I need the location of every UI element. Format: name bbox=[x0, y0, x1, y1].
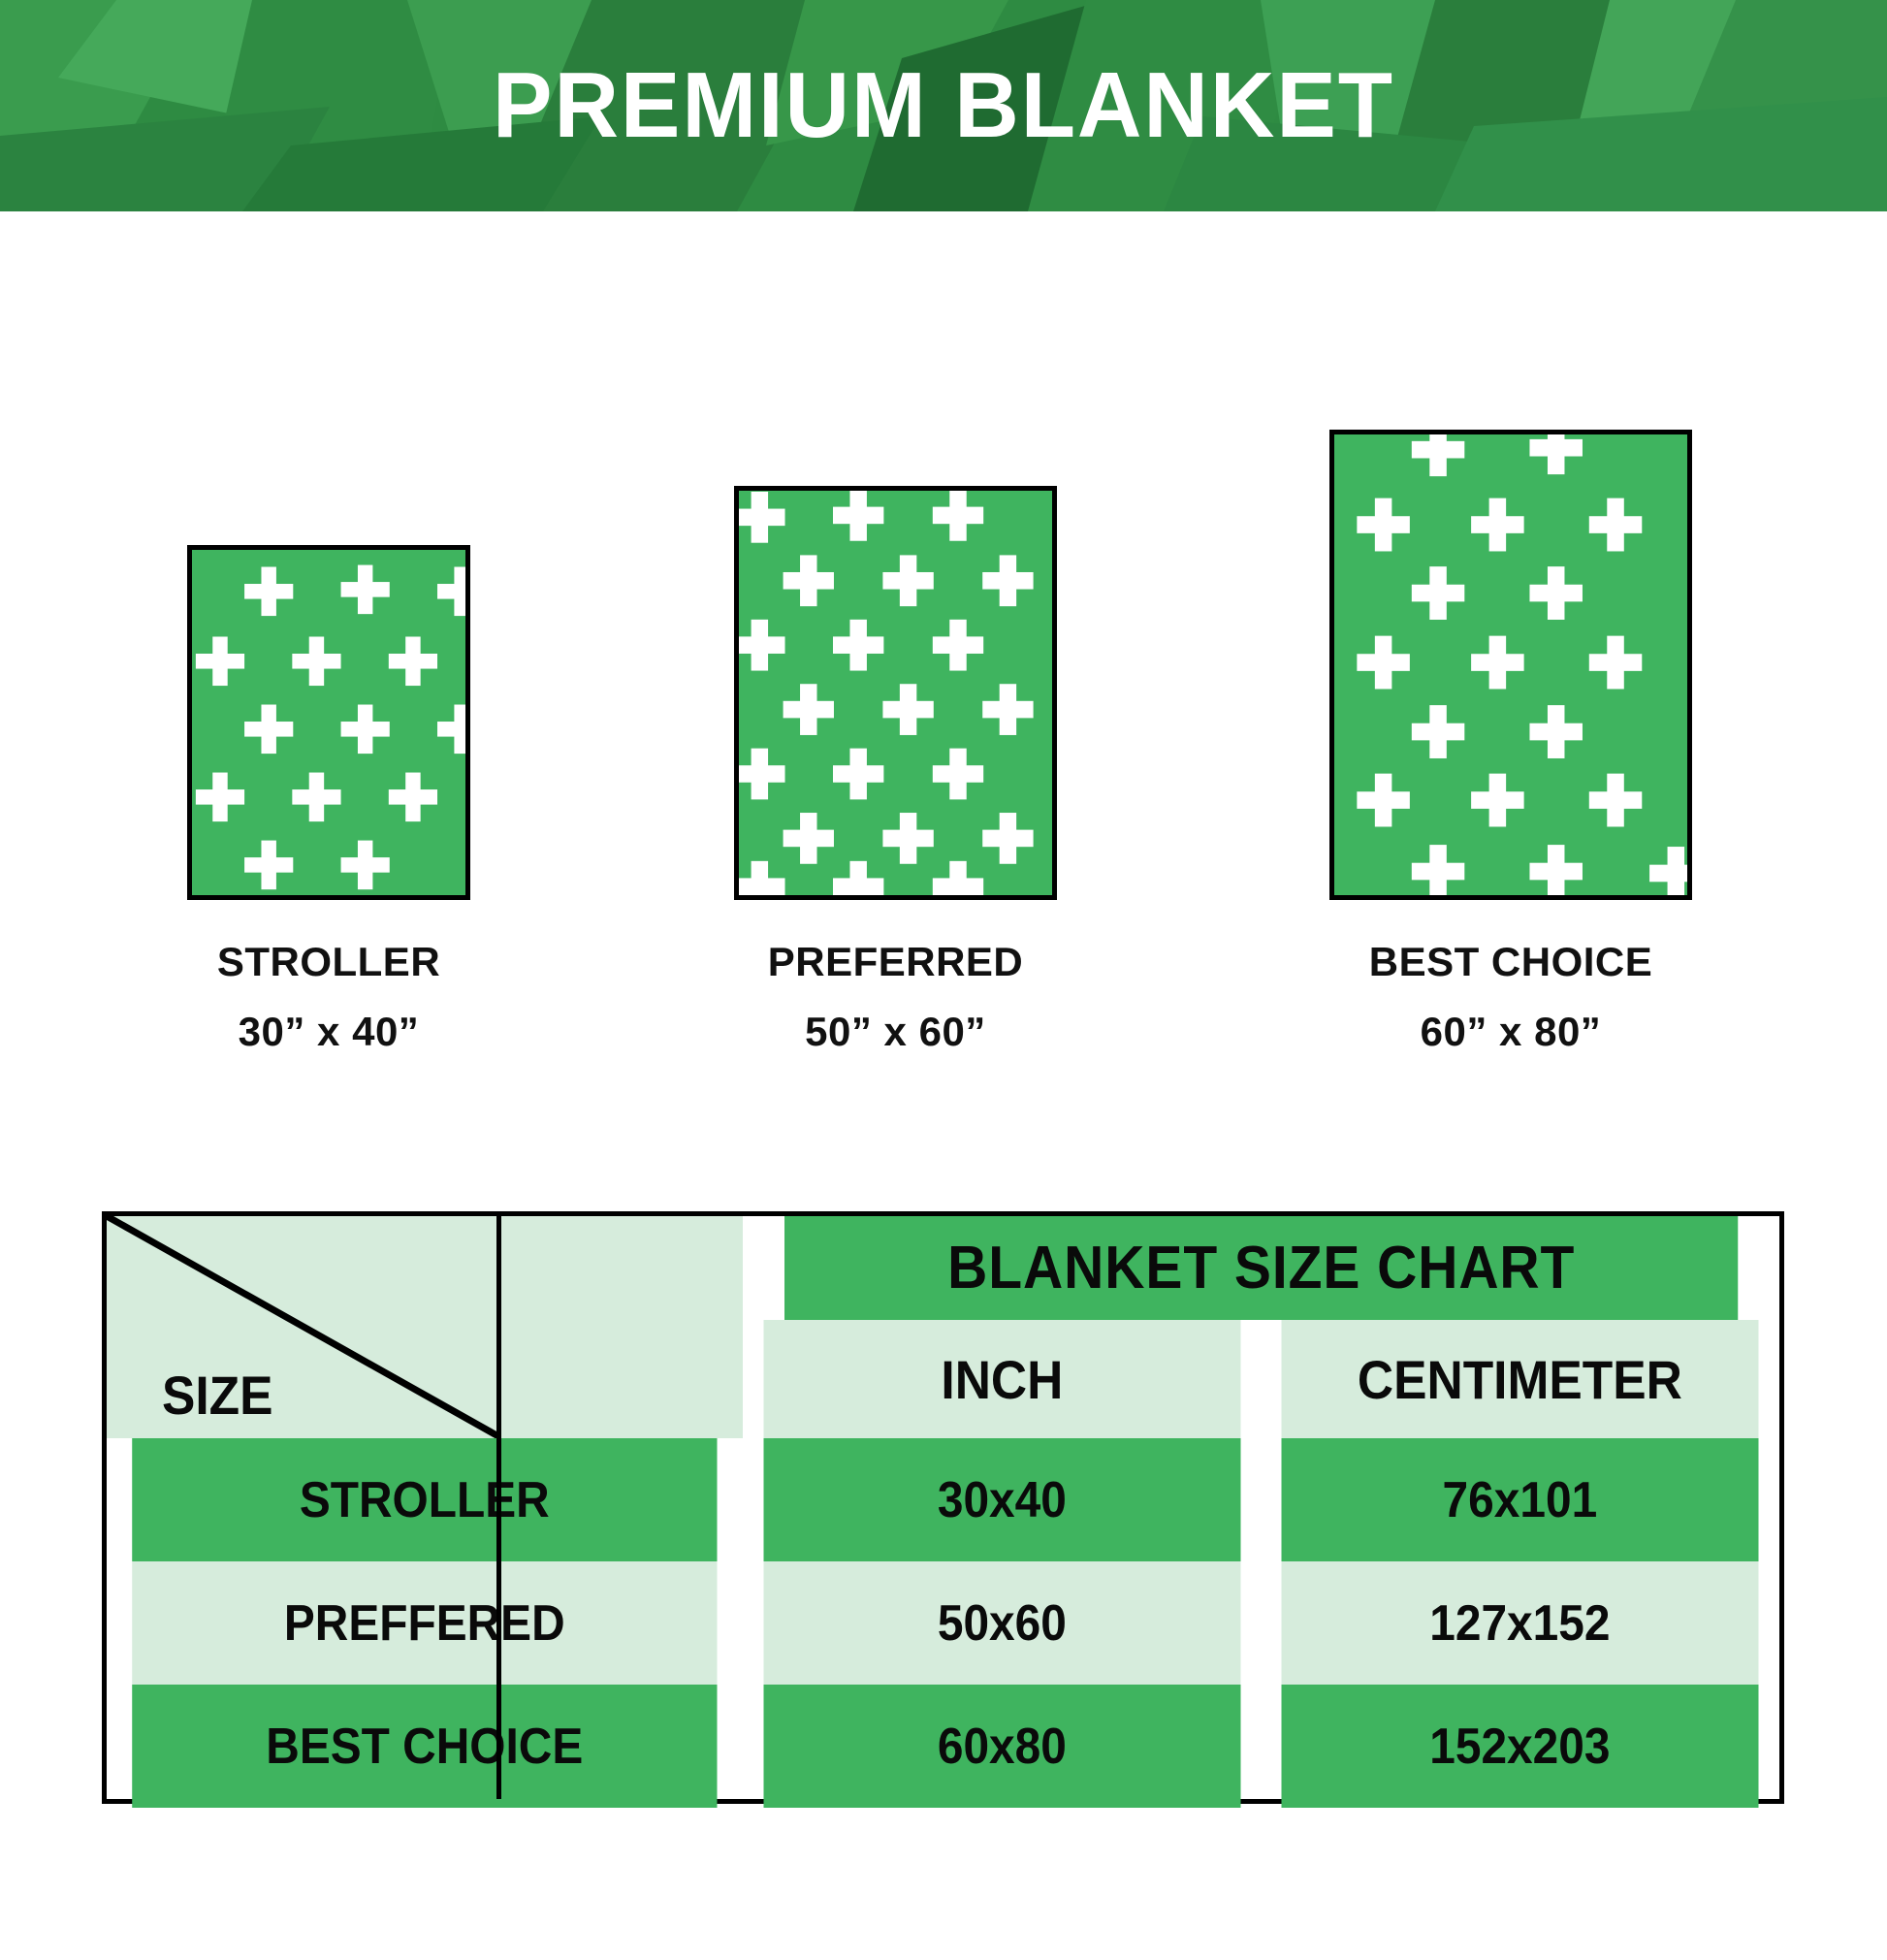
table-header-centimeter: CENTIMETER bbox=[1282, 1320, 1759, 1438]
cross-pattern-icon bbox=[1334, 434, 1687, 895]
size-chart-grid: BLANKET SIZE CHART SIZE INCH CENTIMETER … bbox=[107, 1216, 1779, 1808]
blanket-size-illustrations: STROLLER 30” x 40” bbox=[0, 211, 1887, 1181]
table-cell-inch-preffered: 50x60 bbox=[763, 1561, 1240, 1685]
cross-pattern-icon bbox=[192, 550, 465, 895]
blanket-swatch-preferred bbox=[734, 486, 1057, 900]
table-cell-cm-best-choice: 152x203 bbox=[1282, 1685, 1759, 1808]
swatch-label-preferred: PREFERRED bbox=[618, 939, 1173, 985]
swatch-dims-preferred: 50” x 60” bbox=[618, 1009, 1173, 1055]
table-vertical-divider bbox=[496, 1216, 501, 1799]
table-header-inch: INCH bbox=[763, 1320, 1240, 1438]
table-cell-inch-best-choice: 60x80 bbox=[763, 1685, 1240, 1808]
table-cell-size-stroller: STROLLER bbox=[132, 1438, 717, 1561]
blanket-swatch-stroller bbox=[187, 545, 470, 900]
swatch-label-best-choice: BEST CHOICE bbox=[1213, 939, 1808, 985]
table-row: BEST CHOICE 60x80 152x203 bbox=[107, 1685, 1779, 1808]
table-cell-inch-stroller: 30x40 bbox=[763, 1438, 1240, 1561]
table-row-chart-title: BLANKET SIZE CHART bbox=[107, 1216, 1779, 1320]
swatch-group-best-choice: BEST CHOICE 60” x 80” bbox=[1329, 430, 1692, 900]
table-cell-size-best-choice: BEST CHOICE bbox=[132, 1685, 717, 1808]
table-row: STROLLER 30x40 76x101 bbox=[107, 1438, 1779, 1561]
page-title: PREMIUM BLANKET bbox=[38, 0, 1849, 211]
table-corner-cell-top bbox=[107, 1216, 743, 1320]
swatch-label-stroller: STROLLER bbox=[71, 939, 587, 985]
cross-pattern-icon bbox=[739, 491, 1052, 895]
table-cell-cm-stroller: 76x101 bbox=[1282, 1438, 1759, 1561]
swatch-dims-best-choice: 60” x 80” bbox=[1213, 1009, 1808, 1055]
swatch-dims-stroller: 30” x 40” bbox=[71, 1009, 587, 1055]
swatch-group-preferred: PREFERRED 50” x 60” bbox=[734, 486, 1057, 900]
table-chart-title: BLANKET SIZE CHART bbox=[784, 1216, 1738, 1320]
table-cell-cm-preffered: 127x152 bbox=[1282, 1561, 1759, 1685]
table-row-column-headers: SIZE INCH CENTIMETER bbox=[107, 1320, 1779, 1438]
table-row: PREFFERED 50x60 127x152 bbox=[107, 1561, 1779, 1685]
blanket-size-chart-table: BLANKET SIZE CHART SIZE INCH CENTIMETER … bbox=[102, 1211, 1784, 1804]
table-cell-size-preffered: PREFFERED bbox=[132, 1561, 717, 1685]
table-header-size: SIZE bbox=[162, 1364, 273, 1427]
blanket-swatch-best-choice bbox=[1329, 430, 1692, 900]
page-header-banner: PREMIUM BLANKET bbox=[0, 0, 1887, 211]
table-corner-cell-size: SIZE bbox=[107, 1320, 743, 1438]
swatch-group-stroller: STROLLER 30” x 40” bbox=[187, 545, 470, 900]
